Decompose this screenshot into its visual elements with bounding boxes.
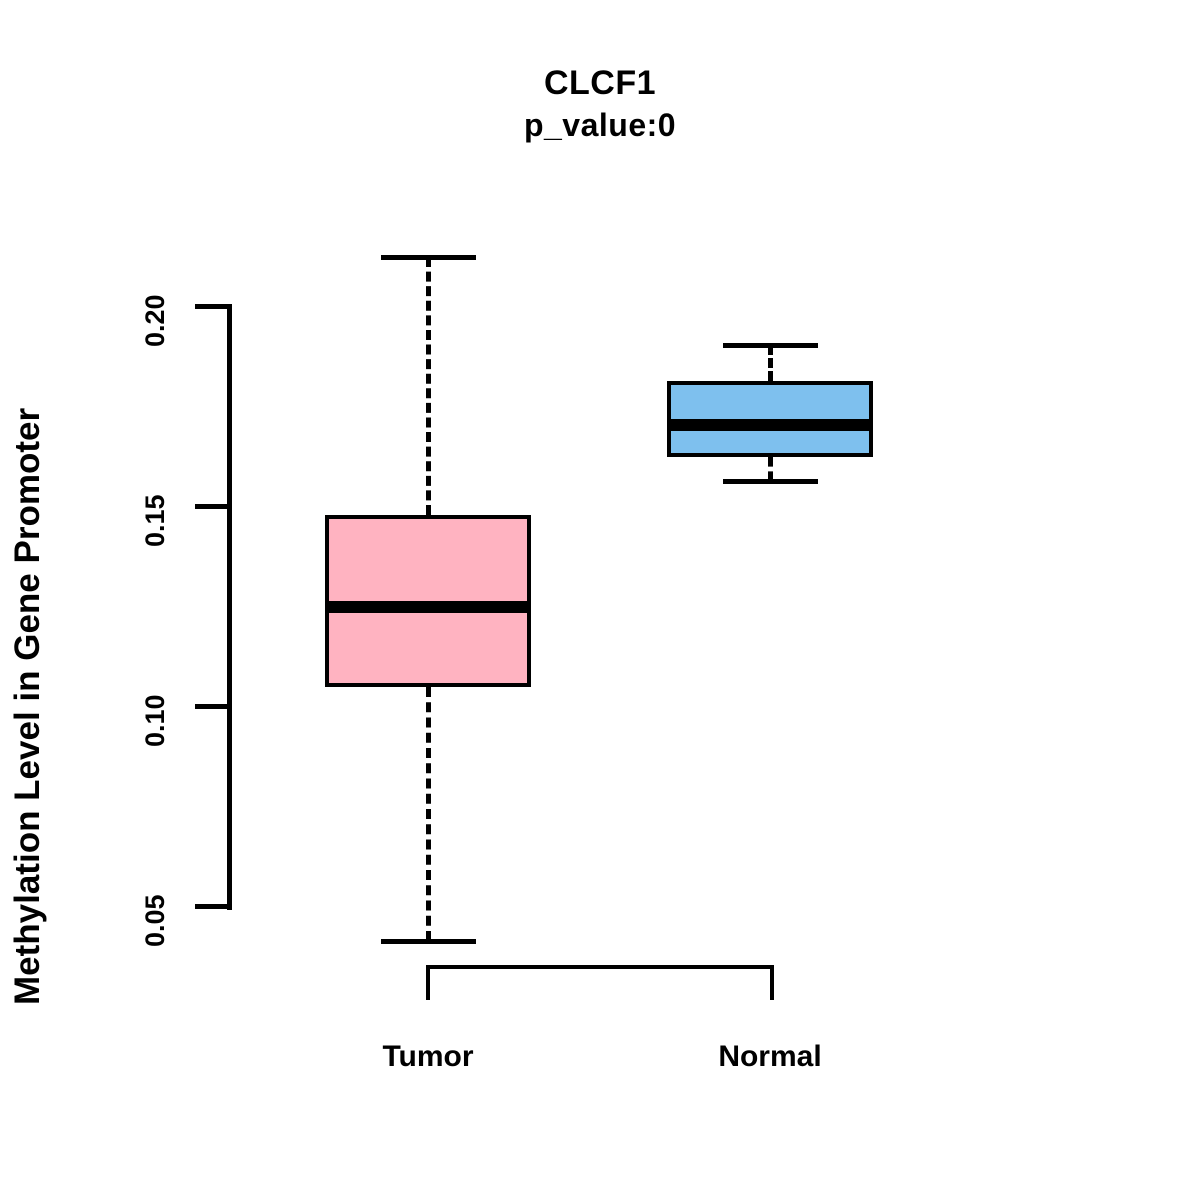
y-tick-mark-0.10	[195, 704, 231, 709]
y-tick-label-0.20: 0.20	[140, 294, 171, 347]
tumor-whisker-cap-upper	[381, 255, 476, 260]
y-tick-mark-0.15	[195, 504, 231, 509]
y-tick-label-0.10: 0.10	[140, 694, 171, 747]
y-tick-label-0.05: 0.05	[140, 894, 171, 947]
x-axis-bracket-leg-left	[426, 965, 430, 1000]
normal-whisker-upper	[768, 345, 773, 381]
normal-whisker-cap-upper	[723, 343, 818, 348]
boxplot-figure: CLCF1 p_value:0 Methylation Level in Gen…	[0, 0, 1200, 1200]
x-axis-label-tumor: Tumor	[328, 1040, 528, 1074]
y-tick-label-0.15: 0.15	[140, 494, 171, 547]
normal-median-line	[667, 419, 873, 431]
tumor-whisker-upper	[426, 257, 431, 515]
normal-whisker-lower	[768, 457, 773, 481]
tumor-median-line	[325, 601, 531, 613]
x-axis-bracket	[426, 965, 774, 969]
y-tick-mark-0.20	[195, 304, 231, 309]
page-title: CLCF1	[0, 62, 1200, 104]
x-axis-bracket-leg-right	[770, 965, 774, 1000]
y-tick-mark-0.05	[195, 904, 231, 909]
tumor-whisker-lower	[426, 687, 431, 941]
x-axis-label-normal: Normal	[670, 1040, 870, 1074]
chart-subtitle: p_value:0	[0, 104, 1200, 146]
y-axis-line	[227, 304, 232, 910]
chart-title-block: CLCF1 p_value:0	[0, 62, 1200, 146]
tumor-whisker-cap-lower	[381, 939, 476, 944]
y-axis-title: Methylation Level in Gene Promoter	[8, 408, 48, 1005]
normal-whisker-cap-lower	[723, 479, 818, 484]
